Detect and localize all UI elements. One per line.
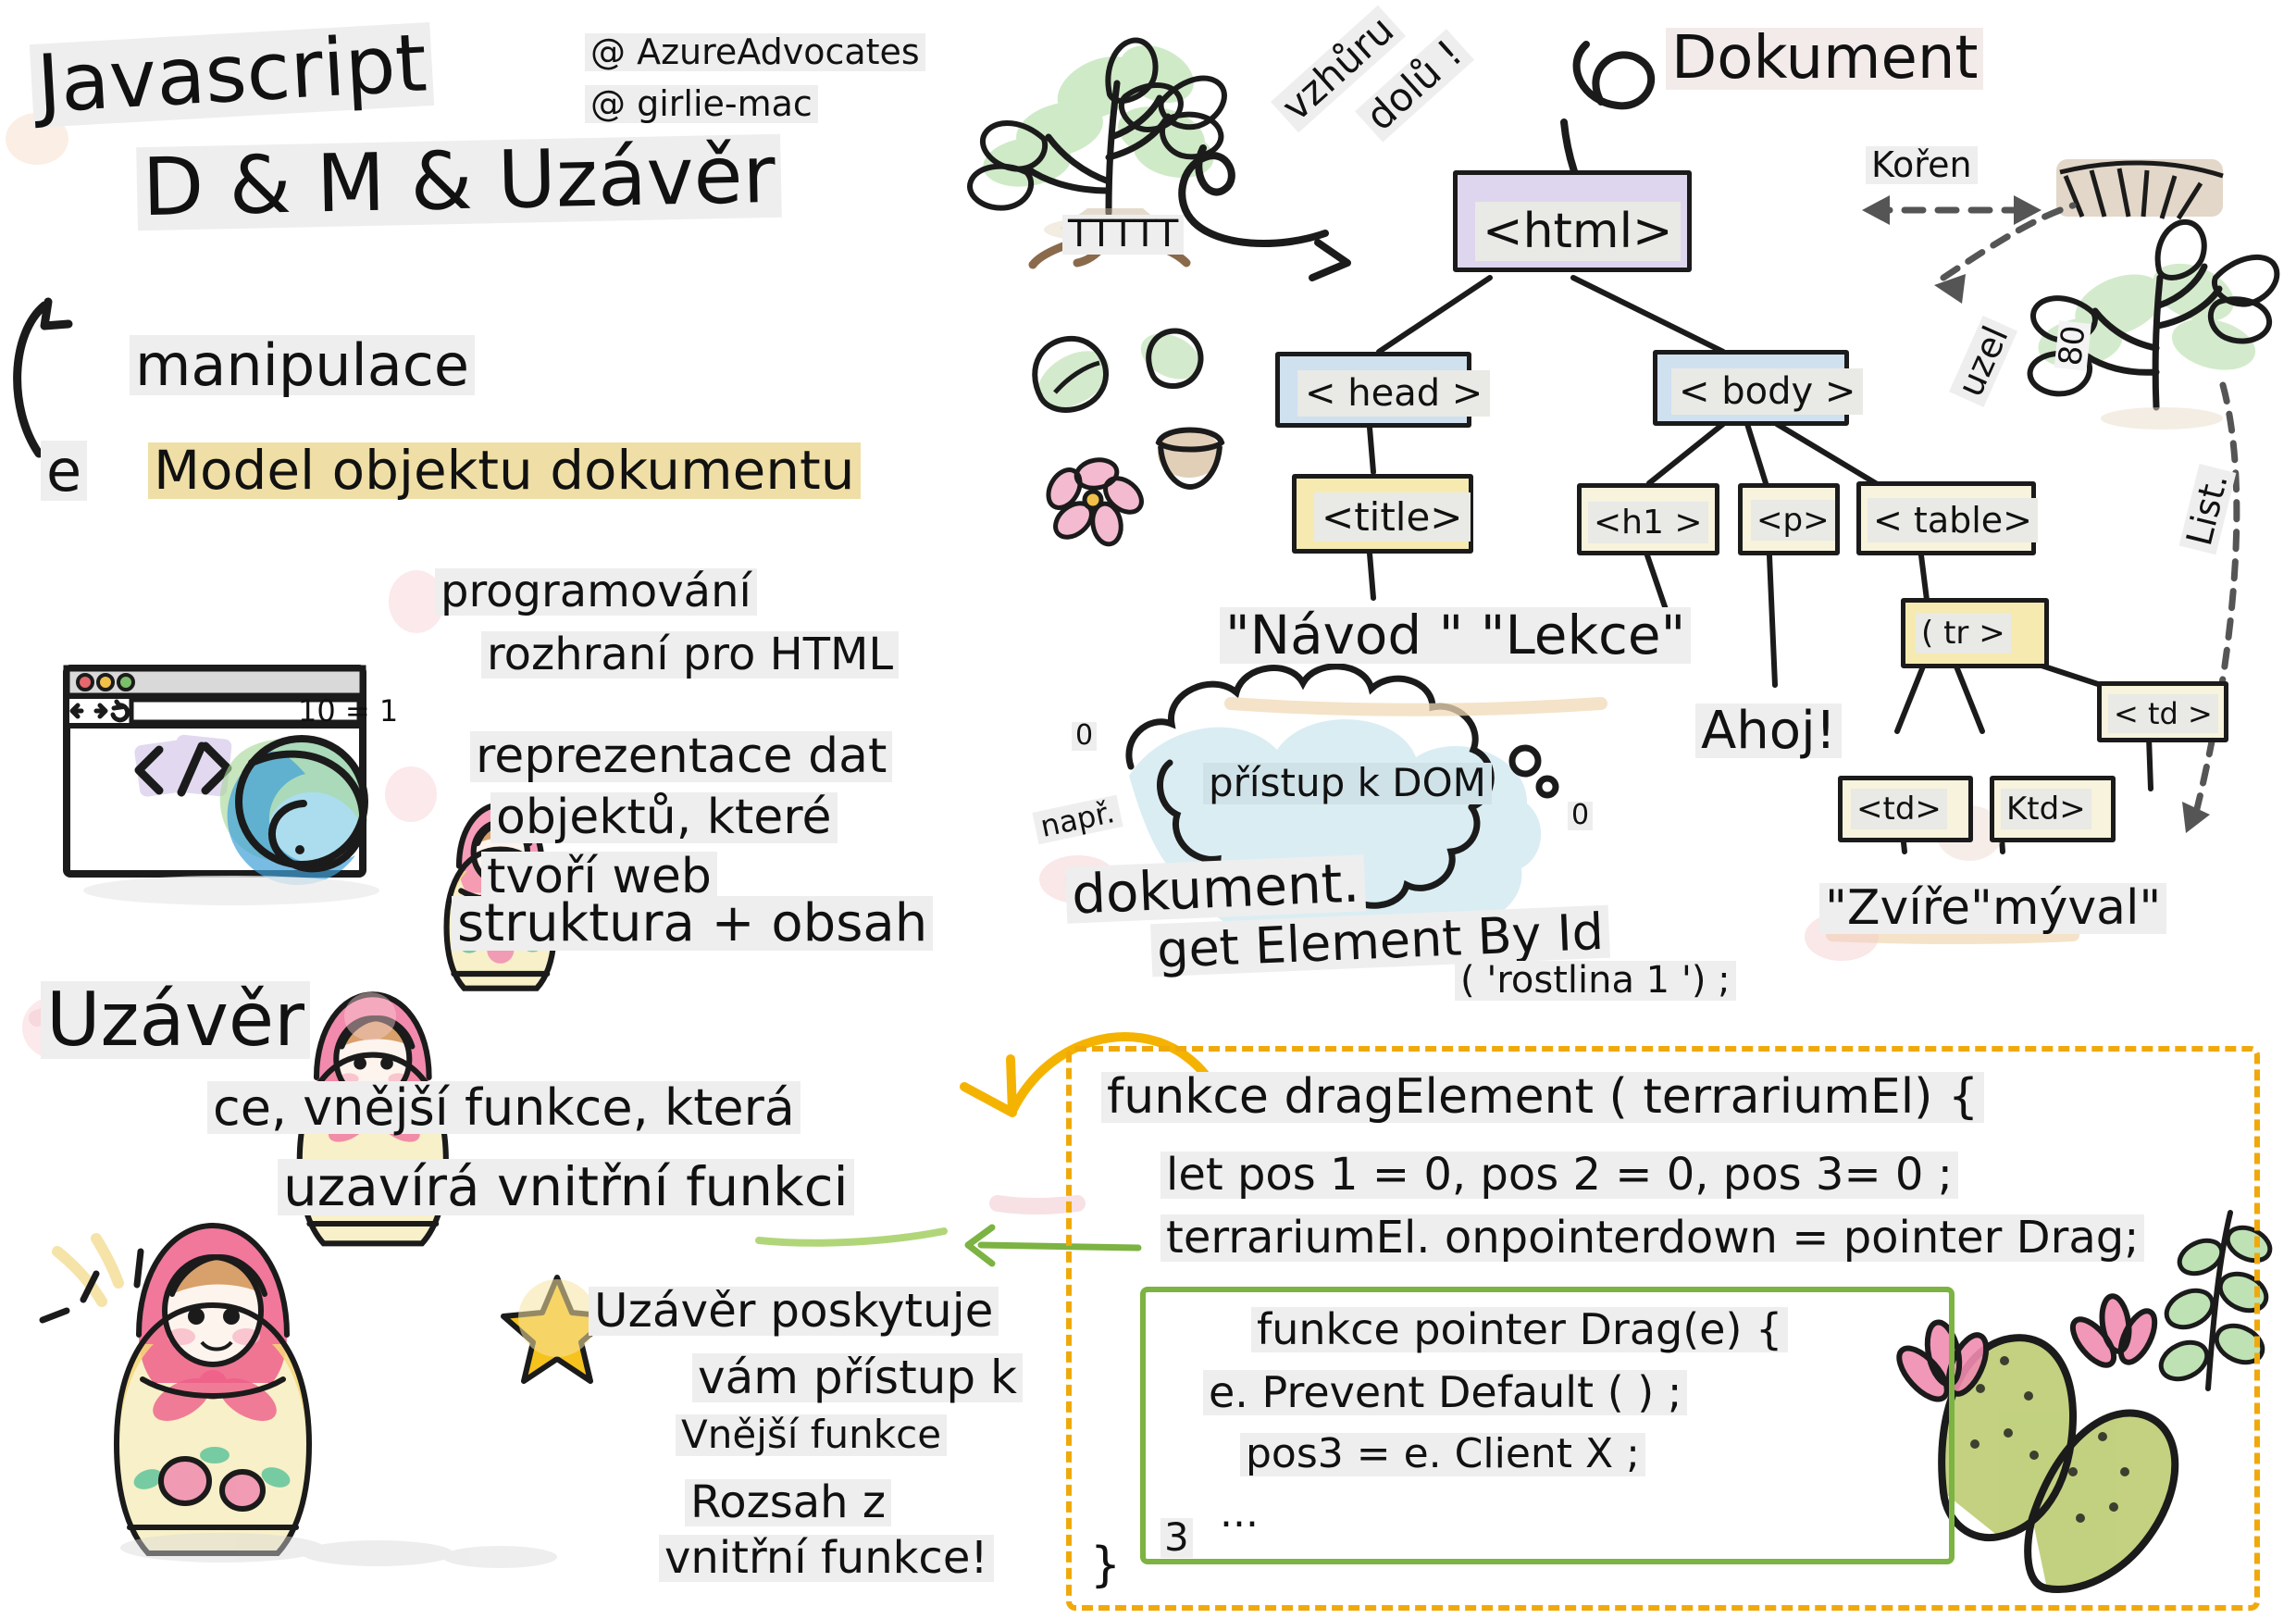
handle-girlie-mac: @ girlie-mac [585, 85, 818, 123]
code-rostlina-arg: ( 'rostlina 1 ') ; [1455, 961, 1736, 1001]
root-arrowheads [1862, 195, 2042, 225]
code-inner-close: 3 [1160, 1518, 1193, 1558]
node-dashed-arrow [1943, 205, 2073, 278]
closure-note-line-3: Vnější funkce [676, 1414, 947, 1456]
doll-large [117, 1226, 309, 1553]
page-subtitle: D & M & Uzávěr [136, 134, 782, 230]
bullet-objektu-ktere: objektů, které [490, 792, 838, 843]
code-outer-close: } [1085, 1540, 1126, 1591]
handle-azure-advocates: @ AzureAdvocates [585, 33, 925, 71]
label-koren: Kořen [1866, 146, 1978, 184]
flower-icon [1042, 456, 1148, 546]
bullet-programovani: programování [435, 568, 757, 616]
code-inner-line-3: pos3 = e. Client X ; [1240, 1433, 1645, 1476]
left-hook-arrow [18, 302, 68, 454]
code-inner-line-1: funkce pointer Drag(e) { [1251, 1307, 1788, 1352]
page-title: Javascript [30, 22, 435, 128]
leaf-dashed-arrow [2193, 385, 2237, 824]
sparkle-marks [57, 1239, 118, 1301]
node-label-head: < head > [1297, 370, 1490, 417]
bullet-reprezentace-dat: reprezentace dat [470, 731, 892, 782]
sketchnote-canvas: Javascript D & M & Uzávěr manipulace e M… [0, 0, 2296, 1619]
node-label-title: <title> [1314, 492, 1471, 542]
node-label-td3: < td > [2108, 694, 2218, 733]
edge-logo-icon [220, 739, 366, 885]
dom-definition-highlight: Model objektu dokumentu [148, 442, 861, 499]
closure-note-line-1: Uzávěr poskytuje [589, 1287, 999, 1336]
closure-note-line-5: vnitřní funkce! [659, 1535, 994, 1582]
code-outer-line-1: funkce dragElement ( terrariumEl) { [1101, 1072, 1984, 1123]
closure-note-line-4: Rozsah z [685, 1479, 891, 1526]
label-uzel: uzel [1949, 316, 2017, 407]
bullet-struktura-obsah: struktura + obsah [452, 896, 933, 951]
leaf-arrowhead [2182, 802, 2210, 833]
label-napriklad: např. [1032, 795, 1123, 844]
underline-strokes [759, 1231, 944, 1243]
node-label-body: < body > [1671, 368, 1863, 415]
browser-zoom-label: 10 = 1 [294, 696, 402, 727]
acorn-icon [1158, 430, 1222, 487]
node-arrowhead [1934, 274, 1966, 304]
closure-line-2: uzavírá vnitřní funkci [278, 1159, 854, 1215]
cloud-label-dom-access: přístup k DOM [1203, 763, 1492, 804]
closure-heading: Uzávěr [41, 981, 310, 1059]
node-label-td1: <td> [1851, 789, 1947, 829]
label-zero-left: 0 [1072, 722, 1097, 751]
text-node-td-value: "Zvíře"mýval" [1819, 883, 2166, 934]
dokument-caption: Dokument [1666, 28, 1983, 90]
label-sprout-80: 80 [2054, 320, 2091, 371]
code-inner-line-2: e. Prevent Default ( ) ; [1203, 1370, 1687, 1415]
code-inner-ellipsis: ... [1214, 1492, 1264, 1536]
node-label-p: <p> [1751, 500, 1835, 541]
label-list: List. [2179, 465, 2236, 555]
seedling-illustration [2030, 159, 2277, 430]
label-zero-right: 0 [1568, 802, 1593, 830]
closure-line-1: ce, vnější funkce, která [207, 1081, 800, 1134]
node-label-h1: <h1 > [1588, 502, 1708, 543]
code-outer-line-2: let pos 1 = 0, pos 2 = 0, pos 3= 0 ; [1160, 1152, 1958, 1199]
scattered-leaves [1028, 325, 1222, 547]
node-label-table: < table> [1868, 498, 2038, 542]
label-plant-ttttt: TTTTT [1062, 215, 1184, 255]
code-outer-line-3: terrariumEl. onpointerdown = pointer Dra… [1160, 1214, 2144, 1262]
bullet-rozhrani-pro-html: rozhraní pro HTML [481, 631, 899, 679]
page-line-manipulace: manipulace [130, 335, 475, 395]
curved-arrow-to-html [1182, 148, 1347, 278]
text-node-title-value: "Návod " "Lekce" [1220, 607, 1691, 664]
node-label-td2: Ktd> [2001, 789, 2091, 829]
text-node-h1-value: Ahoj! [1695, 704, 1842, 758]
closure-note-line-2: vám přístup k [692, 1353, 1023, 1402]
node-label-html: <html> [1475, 202, 1681, 261]
node-label-tr: ( tr > [1916, 613, 2011, 654]
bullet-letter-e: e [41, 441, 87, 501]
